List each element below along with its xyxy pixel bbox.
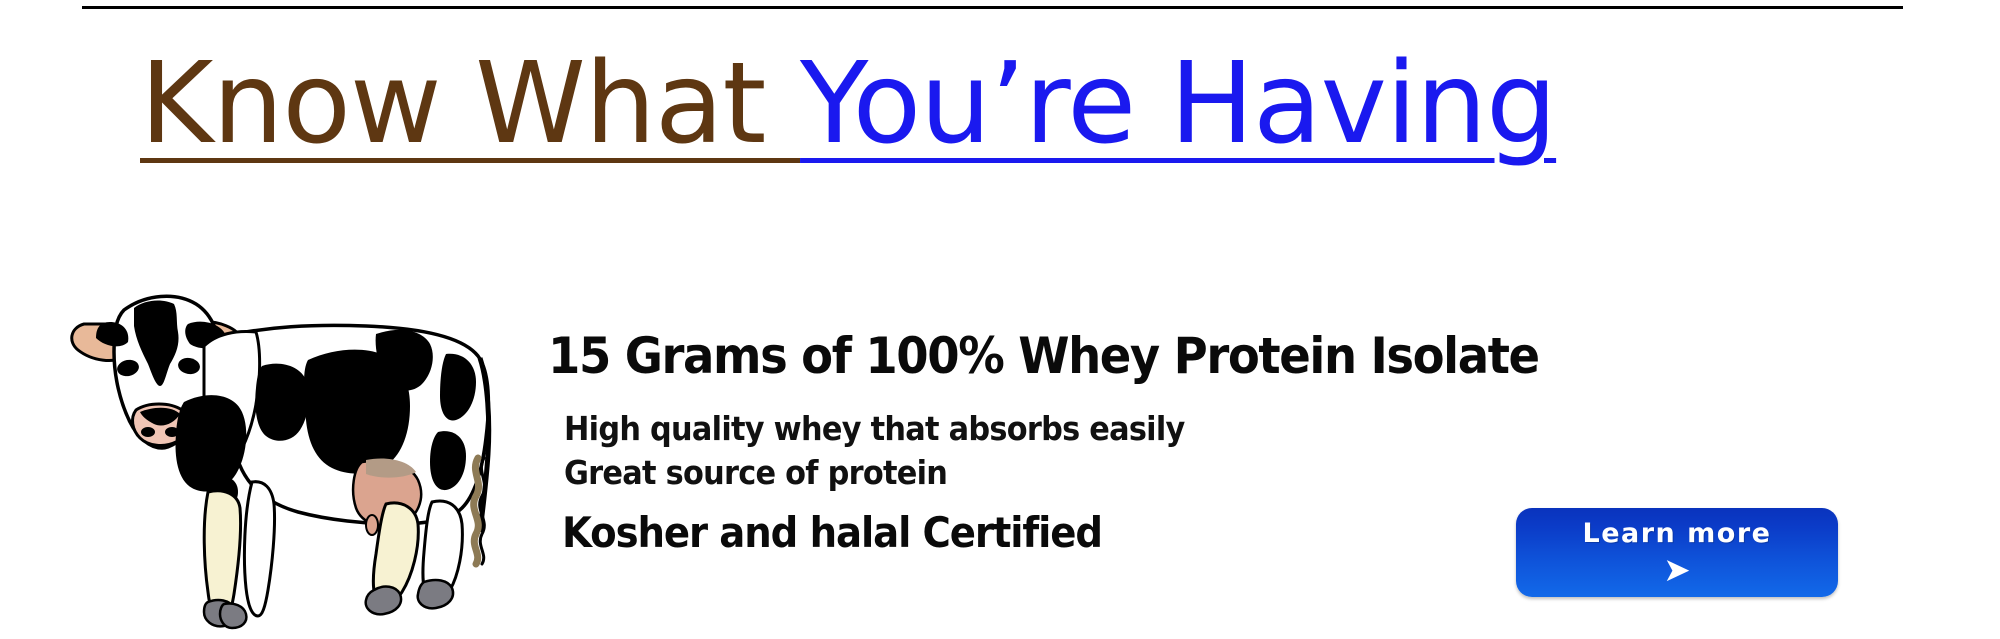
page-title-blue-part: You’re Having [800,39,1556,169]
learn-more-button[interactable]: Learn more ➤ [1516,508,1838,597]
cow-graphic [72,296,489,628]
banner-canvas: Know What You’re Having [0,0,2000,639]
benefit-item-1: High quality whey that absorbs easily [564,407,1856,452]
page-title: Know What You’re Having [140,48,1556,160]
learn-more-label: Learn more [1583,520,1772,547]
product-lead-headline: 15 Grams of 100% Whey Protein Isolate [548,330,1869,383]
page-title-brown-part: Know What [140,39,800,169]
chevron-right-icon: ➤ [1663,553,1691,586]
benefit-item-2: Great source of protein [564,451,1856,496]
dairy-cow-illustration [66,282,516,639]
top-divider-rule [82,6,1903,9]
